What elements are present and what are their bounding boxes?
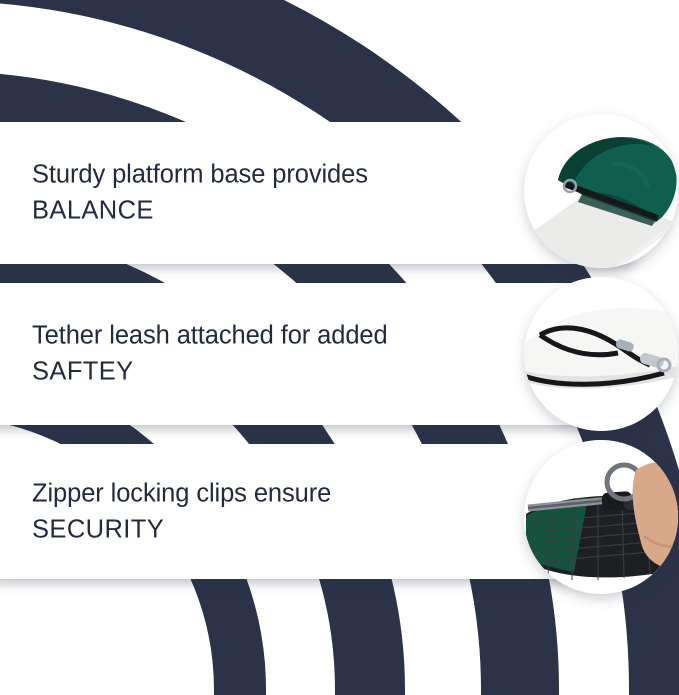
feature-line-1: Tether leash attached for added [32,322,388,350]
promo-infographic: Sturdy platform base provides BALANCE [0,0,679,695]
feature-text-saftey: Tether leash attached for added SAFTEY [32,318,472,391]
feature-line-1: Sturdy platform base provides [32,161,368,189]
feature-accent-word: SAFTEY [32,354,472,390]
feature-accent-word: BALANCE [32,193,472,229]
feature-line-1: Zipper locking clips ensure [32,479,331,507]
feature-accent-word: SECURITY [32,512,472,548]
tether-leash-photo [524,277,678,431]
feature-text-balance: Sturdy platform base provides BALANCE [32,157,472,230]
feature-text-security: Zipper locking clips ensure SECURITY [32,475,472,548]
green-bag-on-platform-photo [524,114,678,268]
zipper-locking-clip-photo [524,440,678,594]
